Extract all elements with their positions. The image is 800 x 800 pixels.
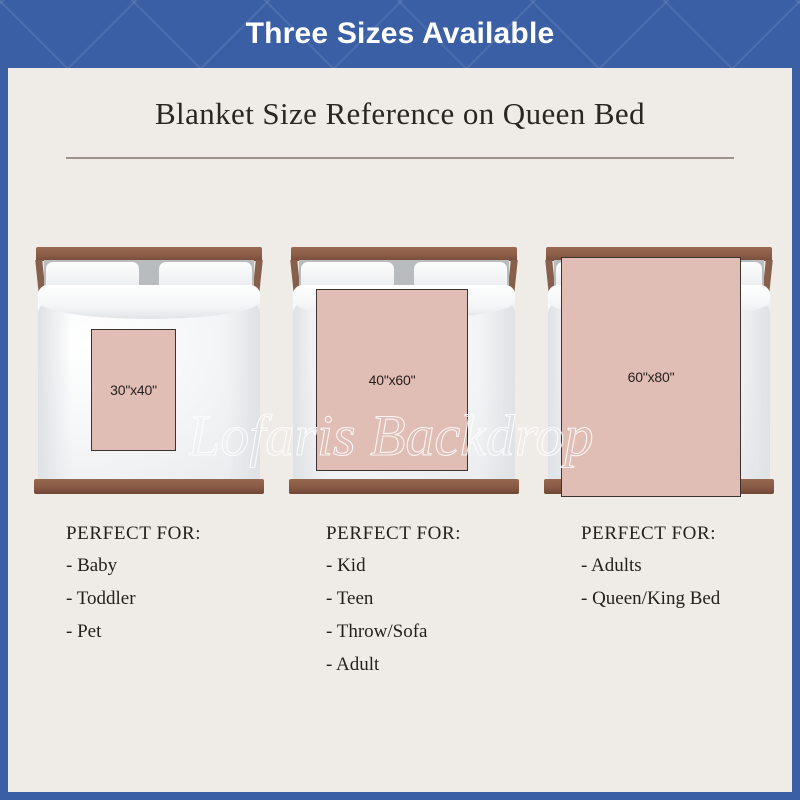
blanket-size-label: 60"x80" <box>628 369 675 385</box>
list-item: - Teen <box>326 588 556 610</box>
perfect-for-small: PERFECT FOR: - Baby - Toddler - Pet <box>66 523 296 654</box>
blanket-overlay-medium: 40"x60" <box>316 289 468 471</box>
duvet-shadow-right <box>481 303 515 481</box>
perfect-for-heading: PERFECT FOR: <box>326 523 556 545</box>
list-item: - Throw/Sofa <box>326 621 556 643</box>
page-title: Blanket Size Reference on Queen Bed <box>8 96 792 132</box>
list-item: - Toddler <box>66 588 296 610</box>
blanket-overlay-small: 30"x40" <box>91 329 176 451</box>
list-item: - Kid <box>326 555 556 577</box>
perfect-for-large: PERFECT FOR: - Adults - Queen/King Bed <box>581 523 792 621</box>
title-divider <box>66 157 734 159</box>
list-item: - Adult <box>326 654 556 676</box>
headboard <box>36 247 262 261</box>
headboard <box>291 247 517 261</box>
duvet-shadow-left <box>38 303 72 481</box>
list-item: - Baby <box>66 555 296 577</box>
bed-illustration-row: 30"x40" 40" <box>8 243 792 513</box>
perfect-for-row: PERFECT FOR: - Baby - Toddler - Pet PERF… <box>8 523 792 753</box>
duvet-shadow-right <box>736 303 770 481</box>
bed-column-medium: 40"x60" <box>285 243 523 513</box>
perfect-for-heading: PERFECT FOR: <box>66 523 296 545</box>
list-item: - Pet <box>66 621 296 643</box>
footboard <box>289 479 519 494</box>
footboard <box>34 479 264 494</box>
header-banner: Three Sizes Available <box>0 0 800 68</box>
perfect-for-medium: PERFECT FOR: - Kid - Teen - Throw/Sofa -… <box>326 523 556 687</box>
perfect-for-heading: PERFECT FOR: <box>581 523 792 545</box>
content-card: Blanket Size Reference on Queen Bed <box>8 68 792 792</box>
infographic-page: Three Sizes Available Blanket Size Refer… <box>0 0 800 800</box>
blanket-size-label: 30"x40" <box>110 382 157 398</box>
banner-title: Three Sizes Available <box>246 17 555 51</box>
duvet-shadow-right <box>226 303 260 481</box>
bed-column-large: 60"x80" <box>540 243 778 513</box>
bed-column-small: 30"x40" <box>30 243 268 513</box>
list-item: - Queen/King Bed <box>581 588 792 610</box>
blanket-size-label: 40"x60" <box>369 372 416 388</box>
list-item: - Adults <box>581 555 792 577</box>
blanket-overlay-large: 60"x80" <box>561 257 741 497</box>
